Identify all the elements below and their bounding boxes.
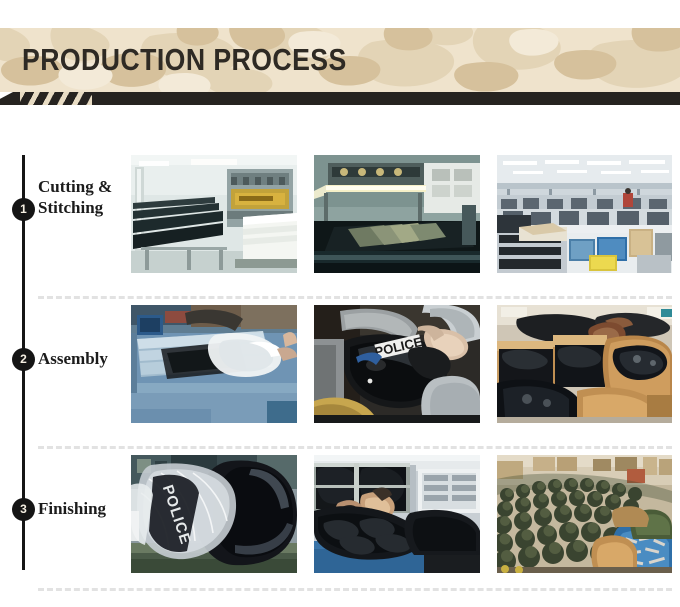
- bar-slant-cut: [0, 92, 13, 105]
- shield-wrapping-photo: POLICE: [131, 455, 297, 573]
- sewing-workshop-photo: [497, 155, 672, 273]
- step-badge-1: 1: [12, 198, 35, 221]
- parts-boxes-photo: [497, 305, 672, 423]
- visor-assembly-photo: [131, 305, 297, 423]
- gear-sorting-photo: [314, 455, 480, 573]
- row-separator-3: [38, 588, 672, 591]
- helmet-assembly-photo: POLICE: [314, 305, 480, 423]
- diagonal-stripes: [20, 92, 92, 105]
- process-row-assembly: 2 Assembly: [0, 300, 680, 446]
- header-banner: PRODUCTION PROCESS: [0, 28, 680, 92]
- header-accent-bar: [0, 92, 680, 105]
- process-rows: 1 Cutting & Stitching: [0, 150, 680, 596]
- page-title: PRODUCTION PROCESS: [22, 42, 347, 78]
- step-label-finishing: Finishing: [38, 498, 126, 519]
- thumbnail-strip-row-2: POLICE: [131, 305, 676, 423]
- process-row-cutting-stitching: 1 Cutting & Stitching: [0, 150, 680, 296]
- heat-press-photo: [314, 155, 480, 273]
- thumbnail-strip-row-3: POLICE: [131, 455, 676, 573]
- cutting-machine-photo: [131, 155, 297, 273]
- process-row-finishing: 3 Finishing: [0, 450, 680, 596]
- step-label-cutting-stitching: Cutting & Stitching: [38, 176, 126, 218]
- step-badge-2: 2: [12, 348, 35, 371]
- step-label-assembly: Assembly: [38, 348, 126, 369]
- thumbnail-strip-row-1: [131, 155, 676, 273]
- step-badge-3: 3: [12, 498, 35, 521]
- helmet-packing-photo: [497, 455, 672, 573]
